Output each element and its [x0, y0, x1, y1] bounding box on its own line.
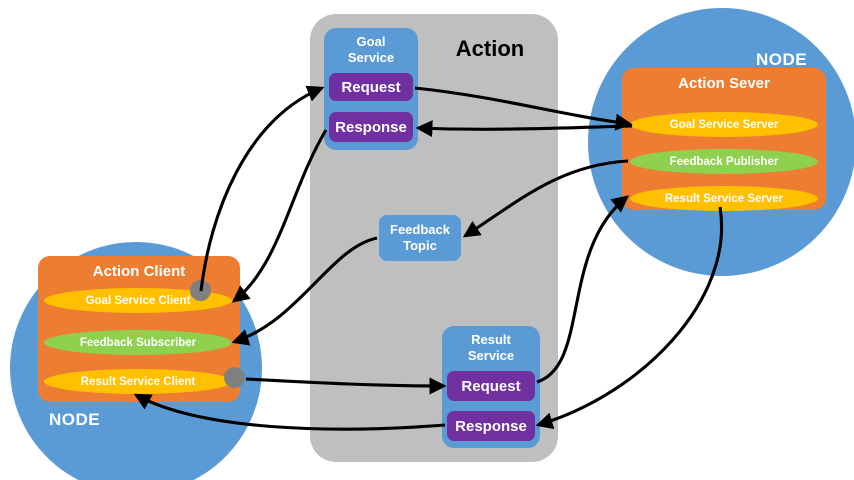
result-service-client-connector-dot: [224, 367, 245, 388]
node-label-server: NODE: [756, 50, 807, 70]
result-service-title: Result Service: [442, 332, 540, 365]
action-server-title: Action Sever: [622, 75, 826, 92]
goal-service-title: Goal Service: [324, 34, 418, 67]
diagram-canvas: Action NODE NODE Action Sever Goal Servi…: [0, 0, 854, 480]
goal-service-title-line1: Goal: [357, 34, 386, 49]
goal-service-response-box[interactable]: Response: [329, 112, 413, 142]
action-client-title: Action Client: [38, 263, 240, 280]
result-service-response-box[interactable]: Response: [447, 411, 535, 441]
node-label-client: NODE: [49, 410, 100, 430]
result-service-title-line1: Result: [471, 332, 511, 347]
feedback-topic-line1: Feedback: [390, 222, 450, 238]
pill-result-service-server[interactable]: Result Service Server: [630, 186, 818, 211]
pill-feedback-publisher[interactable]: Feedback Publisher: [630, 149, 818, 174]
pill-result-service-client[interactable]: Result Service Client: [44, 369, 232, 394]
action-container-title: Action: [430, 36, 550, 62]
pill-feedback-subscriber[interactable]: Feedback Subscriber: [44, 330, 232, 355]
goal-service-request-box[interactable]: Request: [329, 73, 413, 101]
pill-goal-service-server[interactable]: Goal Service Server: [630, 112, 818, 137]
feedback-topic-line2: Topic: [403, 238, 437, 254]
feedback-topic-box[interactable]: Feedback Topic: [379, 215, 461, 261]
goal-service-client-connector-dot: [190, 280, 211, 301]
result-service-title-line2: Service: [468, 348, 514, 363]
result-service-request-box[interactable]: Request: [447, 371, 535, 401]
goal-service-title-line2: Service: [348, 50, 394, 65]
